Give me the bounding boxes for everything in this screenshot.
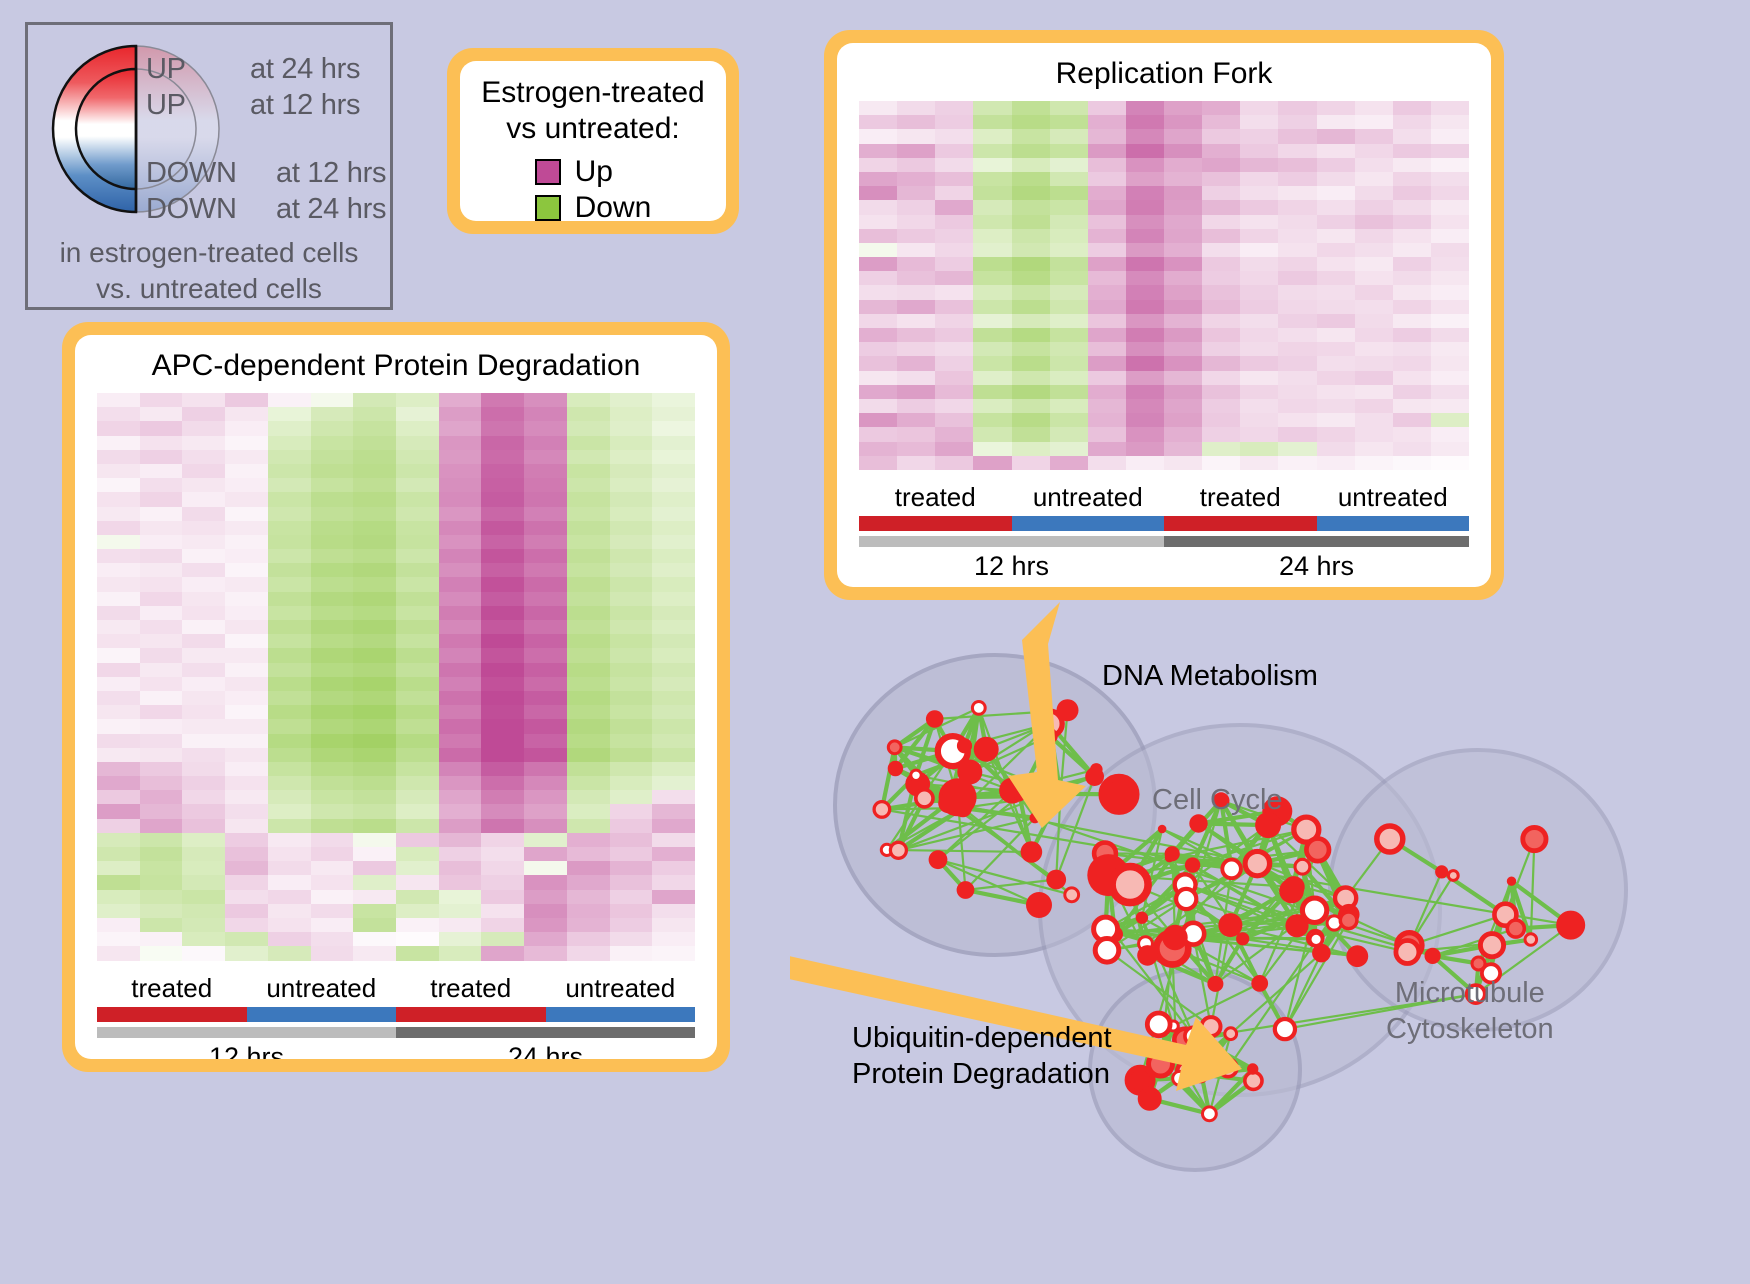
network-node — [1203, 1107, 1217, 1121]
heatmap-cell — [140, 762, 183, 776]
rep-time-bar-24 — [1164, 536, 1469, 547]
heatmap-cell — [1393, 172, 1431, 186]
heatmap-cell — [97, 748, 140, 762]
heatmap-cell — [140, 577, 183, 591]
heatmap-cell — [182, 918, 225, 932]
heatmap-cell — [567, 521, 610, 535]
heatmap-cell — [182, 436, 225, 450]
heatmap-cell — [1355, 456, 1393, 470]
heatmap-cell — [97, 549, 140, 563]
heatmap-cell — [652, 620, 695, 634]
heatmap-cell — [225, 762, 268, 776]
heatmap-cell — [225, 592, 268, 606]
heatmap-cell — [610, 464, 653, 478]
heatmap-cell — [567, 549, 610, 563]
heatmap-cell — [610, 677, 653, 691]
heatmap-cell — [1164, 385, 1202, 399]
heatmap-cell — [1012, 257, 1050, 271]
heatmap-cell — [353, 734, 396, 748]
heatmap-cell — [1050, 129, 1088, 143]
heatmap-cell — [396, 875, 439, 889]
heatmap-cell — [182, 946, 225, 960]
heatmap-cell — [182, 932, 225, 946]
network-node — [1095, 939, 1119, 963]
heatmap-cell — [1126, 371, 1164, 385]
heatmap-cell — [439, 719, 482, 733]
heatmap-cell — [97, 563, 140, 577]
heatmap-cell — [396, 549, 439, 563]
network-node — [1225, 1028, 1237, 1040]
heatmap-cell — [439, 691, 482, 705]
heatmap-cell — [311, 691, 354, 705]
heatmap-cell — [1317, 456, 1355, 470]
heatmap-cell — [481, 492, 524, 506]
heatmap-cell — [481, 663, 524, 677]
heatmap-cell — [1012, 200, 1050, 214]
heatmap-cell — [610, 535, 653, 549]
heatmap-cell — [1012, 186, 1050, 200]
heatmap-cell — [935, 186, 973, 200]
heatmap-cell — [481, 946, 524, 960]
heatmap-cell — [1088, 215, 1126, 229]
heatmap-cell — [652, 563, 695, 577]
heatmap-cell — [225, 861, 268, 875]
heatmap-cell — [1202, 229, 1240, 243]
heatmap-cell — [652, 450, 695, 464]
heatmap-cell — [1126, 285, 1164, 299]
heatmap-cell — [1278, 144, 1316, 158]
heatmap-cell — [567, 776, 610, 790]
heatmap-cell — [610, 478, 653, 492]
heatmap-cell — [524, 875, 567, 889]
heatmap-cell — [439, 734, 482, 748]
heatmap-cell — [311, 592, 354, 606]
heatmap-cell — [396, 918, 439, 932]
heatmap-cell — [897, 257, 935, 271]
heatmap-cell — [610, 436, 653, 450]
heatmap-cell — [897, 158, 935, 172]
rep-col-group-3: untreated — [1317, 482, 1470, 513]
heatmap-cell — [353, 507, 396, 521]
heatmap-cell — [182, 620, 225, 634]
heatmap-cell — [396, 393, 439, 407]
heatmap-cell — [1240, 300, 1278, 314]
network-node — [1236, 932, 1249, 945]
apc-time-bar-12 — [97, 1027, 396, 1038]
heatmap-cell — [935, 101, 973, 115]
heatmap-cell — [524, 890, 567, 904]
heatmap-cell — [1278, 427, 1316, 441]
heatmap-cell — [935, 229, 973, 243]
heatmap-cell — [182, 563, 225, 577]
heatmap-cell — [1240, 215, 1278, 229]
heatmap-cell — [311, 535, 354, 549]
heatmap-cell — [1164, 371, 1202, 385]
heatmap-cell — [225, 450, 268, 464]
heatmap-cell — [1278, 229, 1316, 243]
heatmap-cell — [439, 847, 482, 861]
heatmap-cell — [1164, 399, 1202, 413]
heatmap-cell — [610, 861, 653, 875]
heatmap-cell — [182, 478, 225, 492]
heatmap-cell — [1431, 285, 1469, 299]
heatmap-cell — [140, 592, 183, 606]
heatmap-cell — [481, 847, 524, 861]
network-node — [1346, 945, 1368, 967]
heatmap-cell — [567, 407, 610, 421]
heatmap-cell — [353, 478, 396, 492]
heatmap-cell — [1050, 172, 1088, 186]
rep-group-bar-2 — [1164, 516, 1317, 531]
heatmap-cell — [897, 342, 935, 356]
apc-group-bar-0 — [97, 1007, 247, 1022]
heatmap-cell — [1278, 115, 1316, 129]
heatmap-cell — [268, 620, 311, 634]
network-node — [916, 790, 933, 807]
heatmap-cell — [396, 521, 439, 535]
heatmap-cell — [268, 691, 311, 705]
heatmap-cell — [935, 399, 973, 413]
heatmap-cell — [396, 762, 439, 776]
heatmap-cell — [481, 861, 524, 875]
heatmap-cell — [439, 592, 482, 606]
heatmap-cell — [481, 634, 524, 648]
heatmap-cell — [1393, 356, 1431, 370]
heatmap-cell — [439, 762, 482, 776]
heatmap-cell — [1050, 186, 1088, 200]
heatmap-cell — [652, 804, 695, 818]
heatmap-cell — [140, 606, 183, 620]
heatmap-cell — [1164, 243, 1202, 257]
network-node — [1102, 777, 1136, 811]
heatmap-cell — [97, 535, 140, 549]
heatmap-cell — [1355, 101, 1393, 115]
heatmap-cell — [268, 478, 311, 492]
heatmap-cell — [1012, 285, 1050, 299]
heatmap-cell — [1088, 442, 1126, 456]
heatmap-cell — [610, 549, 653, 563]
heatmap-cell — [973, 144, 1011, 158]
heatmap-cell — [1240, 342, 1278, 356]
heatmap-cell — [140, 648, 183, 662]
network-node — [957, 738, 972, 753]
pathway-network: DNA Metabolism Cell Cycle Microtubule Cy… — [790, 600, 1750, 1279]
heatmap-cell — [396, 478, 439, 492]
heatmap-cell — [652, 890, 695, 904]
heatmap-cell — [140, 663, 183, 677]
heatmap-cell — [140, 890, 183, 904]
heatmap-cell — [1088, 314, 1126, 328]
heatmap-cell — [1431, 356, 1469, 370]
heatmap-cell — [439, 875, 482, 889]
heatmap-cell — [140, 507, 183, 521]
heatmap-cell — [973, 442, 1011, 456]
heatmap-cell — [353, 691, 396, 705]
heatmap-cell — [610, 393, 653, 407]
heatmap-cell — [1012, 271, 1050, 285]
heatmap-cell — [182, 904, 225, 918]
heatmap-cell — [97, 393, 140, 407]
heatmap-cell — [225, 648, 268, 662]
heatmap-cell — [439, 904, 482, 918]
heatmap-cell — [97, 847, 140, 861]
heatmap-cell — [1126, 215, 1164, 229]
heatmap-cell — [182, 577, 225, 591]
rep-time-label-24: 24 hrs — [1164, 551, 1469, 582]
heatmap-cell — [973, 271, 1011, 285]
heatmap-cell — [140, 847, 183, 861]
heatmap-cell — [567, 819, 610, 833]
heatmap-cell — [1278, 328, 1316, 342]
heatmap-cell — [140, 634, 183, 648]
heatmap-cell — [268, 407, 311, 421]
heatmap-cell — [268, 592, 311, 606]
heatmap-cell — [396, 719, 439, 733]
replication-fork-panel: Replication Fork treated untreated treat… — [824, 30, 1504, 600]
heatmap-cell — [225, 890, 268, 904]
heatmap-cell — [1431, 442, 1469, 456]
heatmap-cell — [97, 592, 140, 606]
heatmap-cell — [1126, 328, 1164, 342]
heatmap-cell — [1317, 101, 1355, 115]
network-node — [1396, 941, 1419, 964]
heatmap-cell — [182, 393, 225, 407]
heatmap-cell — [1355, 285, 1393, 299]
heatmap-cell — [610, 719, 653, 733]
network-node — [890, 842, 906, 858]
heatmap-cell — [610, 705, 653, 719]
heatmap-cell — [610, 634, 653, 648]
heatmap-cell — [268, 904, 311, 918]
heatmap-cell — [652, 535, 695, 549]
heatmap-cell — [567, 436, 610, 450]
heatmap-cell — [1431, 144, 1469, 158]
heatmap-cell — [140, 790, 183, 804]
heatmap-cell — [1240, 385, 1278, 399]
heatmap-cell — [859, 285, 897, 299]
heatmap-cell — [396, 648, 439, 662]
heatmap-cell — [140, 918, 183, 932]
heatmap-cell — [1202, 399, 1240, 413]
heatmap-cell — [182, 521, 225, 535]
heatmap-cell — [610, 421, 653, 435]
heatmap-cell — [524, 691, 567, 705]
heatmap-cell — [1012, 158, 1050, 172]
heatmap-cell — [439, 748, 482, 762]
heatmap-cell — [396, 861, 439, 875]
network-node — [1295, 859, 1310, 874]
heatmap-cell — [268, 450, 311, 464]
heatmap-cell — [481, 648, 524, 662]
heatmap-cell — [524, 790, 567, 804]
heatmap-cell — [1088, 158, 1126, 172]
heatmap-cell — [567, 691, 610, 705]
heatmap-cell — [439, 577, 482, 591]
heatmap-cell — [524, 549, 567, 563]
heatmap-cell — [396, 421, 439, 435]
heatmap-cell — [1240, 356, 1278, 370]
heatmap-cell — [610, 833, 653, 847]
heatmap-cell — [652, 521, 695, 535]
heatmap-cell — [1278, 371, 1316, 385]
heatmap-cell — [353, 875, 396, 889]
heatmap-cell — [897, 442, 935, 456]
heatmap-cell — [353, 847, 396, 861]
heatmap-cell — [439, 478, 482, 492]
heatmap-cell — [225, 918, 268, 932]
heatmap-cell — [396, 634, 439, 648]
heatmap-cell — [1050, 243, 1088, 257]
heatmap-cell — [1393, 456, 1431, 470]
heatmap-cell — [1355, 186, 1393, 200]
heatmap-cell — [1088, 300, 1126, 314]
heatmap-cell — [225, 691, 268, 705]
heatmap-cell — [481, 478, 524, 492]
heatmap-cell — [439, 790, 482, 804]
heatmap-cell — [182, 407, 225, 421]
heatmap-cell — [396, 606, 439, 620]
heatmap-cell — [353, 421, 396, 435]
heatmap-cell — [1393, 314, 1431, 328]
heatmap-cell — [1202, 200, 1240, 214]
heatmap-cell — [481, 705, 524, 719]
heatmap-cell — [225, 705, 268, 719]
heatmap-cell — [268, 577, 311, 591]
network-node — [1185, 857, 1200, 872]
heatmap-cell — [935, 371, 973, 385]
heatmap-cell — [1012, 399, 1050, 413]
heatmap-cell — [1202, 215, 1240, 229]
heatmap-cell — [1202, 115, 1240, 129]
heatmap-cell — [567, 492, 610, 506]
heatmap-cell — [1317, 172, 1355, 186]
heatmap-cell — [973, 399, 1011, 413]
heatmap-cell — [1355, 115, 1393, 129]
heatmap-cell — [652, 904, 695, 918]
heatmap-cell — [567, 421, 610, 435]
heatmap-cell — [1355, 314, 1393, 328]
heatmap-cell — [524, 918, 567, 932]
apc-group-bar-1 — [247, 1007, 397, 1022]
heatmap-cell — [1202, 328, 1240, 342]
heatmap-cell — [396, 620, 439, 634]
color-key-caption: in estrogen-treated cells vs. untreated … — [28, 235, 390, 307]
heatmap-cell — [1126, 456, 1164, 470]
heatmap-cell — [182, 762, 225, 776]
network-node — [1207, 976, 1223, 992]
heatmap-cell — [225, 492, 268, 506]
heatmap-cell — [1431, 172, 1469, 186]
heatmap-cell — [1355, 200, 1393, 214]
heatmap-cell — [225, 677, 268, 691]
heatmap-cell — [1050, 215, 1088, 229]
heatmap-cell — [652, 847, 695, 861]
heatmap-cell — [935, 314, 973, 328]
heatmap-cell — [97, 946, 140, 960]
heatmap-cell — [182, 450, 225, 464]
rep-time-label-12: 12 hrs — [859, 551, 1164, 582]
heatmap-cell — [182, 663, 225, 677]
heatmap-cell — [396, 904, 439, 918]
heatmap-cell — [311, 549, 354, 563]
heatmap-cell — [1278, 243, 1316, 257]
network-node — [1137, 945, 1158, 966]
heatmap-cell — [481, 507, 524, 521]
heatmap-cell — [610, 762, 653, 776]
heatmap-cell — [897, 101, 935, 115]
heatmap-cell — [140, 904, 183, 918]
heatmap-cell — [1088, 229, 1126, 243]
up-swatch-icon — [535, 159, 561, 185]
heatmap-cell — [396, 577, 439, 591]
heatmap-cell — [1393, 385, 1431, 399]
heatmap-cell — [524, 478, 567, 492]
heatmap-cell — [140, 819, 183, 833]
heatmap-cell — [524, 833, 567, 847]
heatmap-cell — [1240, 229, 1278, 243]
heatmap-cell — [859, 385, 897, 399]
heatmap-cell — [311, 861, 354, 875]
heatmap-cell — [481, 677, 524, 691]
network-node — [888, 761, 903, 776]
heatmap-cell — [268, 521, 311, 535]
heatmap-cell — [225, 946, 268, 960]
heatmap-cell — [973, 371, 1011, 385]
heatmap-cell — [97, 904, 140, 918]
heatmap-cell — [610, 748, 653, 762]
heatmap-cell — [1278, 399, 1316, 413]
heatmap-cell — [182, 535, 225, 549]
heatmap-cell — [1431, 314, 1469, 328]
heatmap-cell — [859, 158, 897, 172]
heatmap-cell — [1393, 413, 1431, 427]
heatmap-cell — [610, 918, 653, 932]
network-node — [1426, 949, 1439, 962]
heatmap-cell — [353, 904, 396, 918]
heatmap-cell — [439, 663, 482, 677]
heatmap-cell — [481, 464, 524, 478]
heatmap-cell — [973, 427, 1011, 441]
heatmap-cell — [1431, 200, 1469, 214]
heatmap-cell — [1393, 328, 1431, 342]
heatmap-cell — [652, 932, 695, 946]
heatmap-cell — [1393, 186, 1431, 200]
heatmap-cell — [1431, 427, 1469, 441]
heatmap-cell — [1240, 371, 1278, 385]
heatmap-cell — [225, 393, 268, 407]
heatmap-cell — [567, 563, 610, 577]
heatmap-cell — [225, 847, 268, 861]
heatmap-cell — [567, 507, 610, 521]
heatmap-cell — [1355, 243, 1393, 257]
heatmap-cell — [1431, 399, 1469, 413]
heatmap-cell — [524, 450, 567, 464]
heatmap-cell — [1431, 229, 1469, 243]
heatmap-cell — [610, 577, 653, 591]
heatmap-cell — [311, 663, 354, 677]
heatmap-cell — [1088, 115, 1126, 129]
heatmap-cell — [973, 129, 1011, 143]
heatmap-cell — [1050, 257, 1088, 271]
network-node — [1472, 957, 1485, 970]
heatmap-cell — [897, 243, 935, 257]
heatmap-cell — [1278, 456, 1316, 470]
heatmap-cell — [439, 705, 482, 719]
heatmap-cell — [524, 663, 567, 677]
heatmap-cell — [311, 407, 354, 421]
heatmap-cell — [1355, 129, 1393, 143]
heatmap-cell — [481, 592, 524, 606]
